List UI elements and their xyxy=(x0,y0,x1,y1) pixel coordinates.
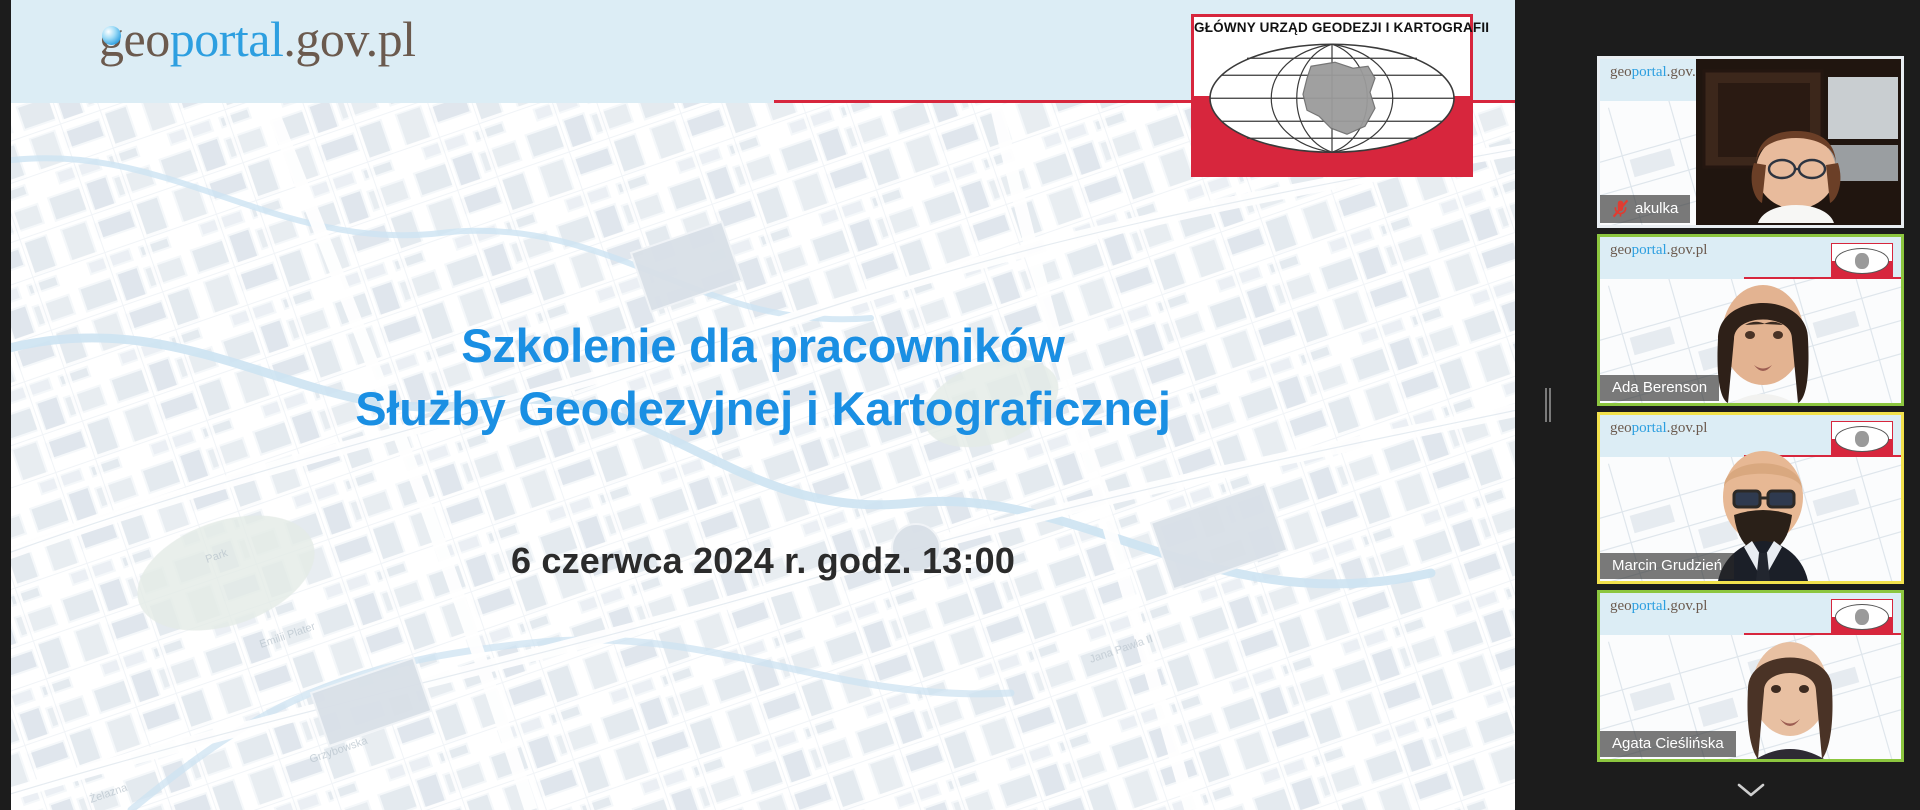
tile-brand: geoportal.gov.pl xyxy=(1610,598,1707,615)
participant-tile[interactable]: geoportal.gov.pl xyxy=(1597,412,1904,584)
globe-dot-icon xyxy=(102,26,121,45)
participant-webcam-image xyxy=(1696,59,1901,225)
panel-resize-divider[interactable] xyxy=(1515,0,1581,810)
wordmark-domain: .gov.pl xyxy=(283,11,415,67)
participant-name: Ada Berenson xyxy=(1612,379,1707,396)
participant-filmstrip[interactable]: geoportal.gov.pl xyxy=(1581,0,1920,810)
city-map-background: Park Emilii Plater Grzybowska Żelazna Ja… xyxy=(11,103,1515,810)
chevron-down-icon xyxy=(1736,781,1766,799)
slide-title-line2: Służby Geodezyjnej i Kartograficznej xyxy=(11,378,1515,441)
participant-tile[interactable]: geoportal.gov.pl xyxy=(1597,590,1904,762)
participant-name: Agata Cieślińska xyxy=(1612,735,1724,752)
gugik-logo: GŁÓWNY URZĄD GEODEZJI I KARTOGRAFII xyxy=(1191,14,1473,177)
participant-tile[interactable]: geoportal.gov.pl xyxy=(1597,56,1904,228)
tile-brand: geoportal.gov.pl xyxy=(1610,420,1707,437)
participant-name-badge: akulka xyxy=(1600,195,1690,223)
tile-brand: geoportal.gov.pl xyxy=(1610,64,1707,81)
participant-name: Marcin Grudzień xyxy=(1612,557,1722,574)
gugik-logo-title: GŁÓWNY URZĄD GEODEZJI I KARTOGRAFII xyxy=(1194,20,1470,35)
tile-gugik-logo xyxy=(1831,243,1893,277)
slide-title: Szkolenie dla pracowników Służby Geodezy… xyxy=(11,315,1515,440)
presentation-slide: Park Emilii Plater Grzybowska Żelazna Ja… xyxy=(11,0,1515,810)
shared-content-stage[interactable]: Park Emilii Plater Grzybowska Żelazna Ja… xyxy=(11,0,1515,810)
scroll-down-button[interactable] xyxy=(1597,770,1904,810)
drag-handle-icon[interactable] xyxy=(1544,388,1552,422)
slide-date: 6 czerwca 2024 r. godz. 13:00 xyxy=(11,540,1515,582)
participant-name-badge: Ada Berenson xyxy=(1600,375,1719,401)
participant-name-badge: Marcin Grudzień xyxy=(1600,553,1734,579)
meeting-screen-share-view: Park Emilii Plater Grzybowska Żelazna Ja… xyxy=(0,0,1920,810)
microphone-muted-icon xyxy=(1612,199,1629,218)
globe-poland-icon xyxy=(1207,42,1457,154)
participant-tile[interactable]: geoportal.gov.pl xyxy=(1597,234,1904,406)
participant-name-badge: Agata Cieślińska xyxy=(1600,731,1736,757)
participant-name: akulka xyxy=(1635,200,1678,217)
left-gutter xyxy=(0,0,11,810)
geoportal-wordmark: geoportal.gov.pl xyxy=(99,10,416,68)
tile-brand: geoportal.gov.pl xyxy=(1610,242,1707,259)
wordmark-portal: portal xyxy=(170,11,284,67)
tile-gugik-logo xyxy=(1831,599,1893,633)
slide-title-line1: Szkolenie dla pracowników xyxy=(11,315,1515,378)
